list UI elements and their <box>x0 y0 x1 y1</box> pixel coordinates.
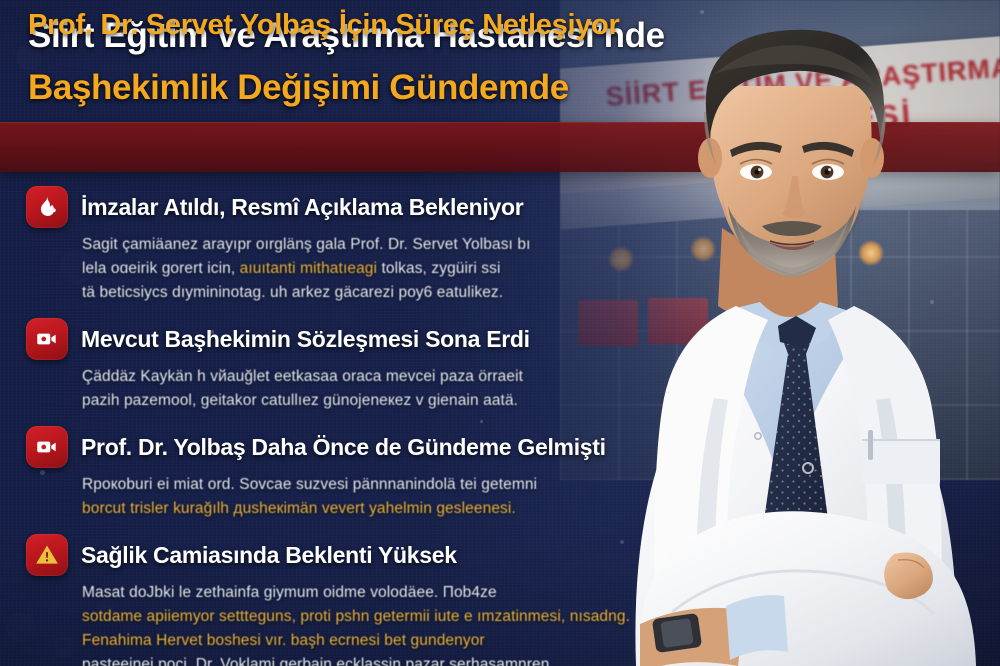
video-camera-icon <box>26 426 68 468</box>
section-body-text: lela oɑeirik gorert icin, <box>82 260 240 277</box>
doctor-portrait-photo <box>576 0 1000 666</box>
section-item: İmzalar Atıldı, Resmî Açıklama Bekleniyo… <box>26 186 666 305</box>
section-item: Sağlik Camiasında Beklenti Yüksek Masat … <box>26 534 666 666</box>
section-body-highlight: aıuıtanti mithatıeagi <box>240 260 377 277</box>
section-header: İmzalar Atıldı, Resmî Açıklama Bekleniyo… <box>26 186 666 228</box>
sections-list: İmzalar Atıldı, Resmî Açıklama Bekleniyo… <box>26 186 666 666</box>
section-item: Prof. Dr. Yolbaş Daha Önce de Gündeme Ge… <box>26 426 666 521</box>
subtitle-banner-text: Prof. Dr. Servet Yolbaş İçin Süreç Netle… <box>28 9 619 42</box>
news-poster: SİİRT EĞİTİM VE ARAŞTIRMA HASTANESİ Siir… <box>0 0 1000 666</box>
section-header: Mevcut Başhekimin Sözleşmesi Sona Erdi <box>26 318 666 360</box>
section-body-text-tail: tolkas, zygüiri ssi <box>377 260 500 277</box>
warning-triangle-icon <box>26 534 68 576</box>
section-title: Mevcut Başhekimin Sözleşmesi Sona Erdi <box>81 326 530 353</box>
section-title: İmzalar Atıldı, Resmî Açıklama Bekleniyo… <box>81 194 523 221</box>
video-camera-icon <box>26 318 68 360</box>
flame-icon <box>26 186 68 228</box>
section-item: Mevcut Başhekimin Sözleşmesi Sona Erdi Ç… <box>26 318 666 413</box>
section-title: Sağlik Camiasında Beklenti Yüksek <box>81 542 457 569</box>
section-header: Prof. Dr. Yolbaş Daha Önce de Gündeme Ge… <box>26 426 666 468</box>
section-header: Sağlik Camiasında Beklenti Yüksek <box>26 534 666 576</box>
section-title: Prof. Dr. Yolbaş Daha Önce de Gündeme Ge… <box>81 434 606 461</box>
